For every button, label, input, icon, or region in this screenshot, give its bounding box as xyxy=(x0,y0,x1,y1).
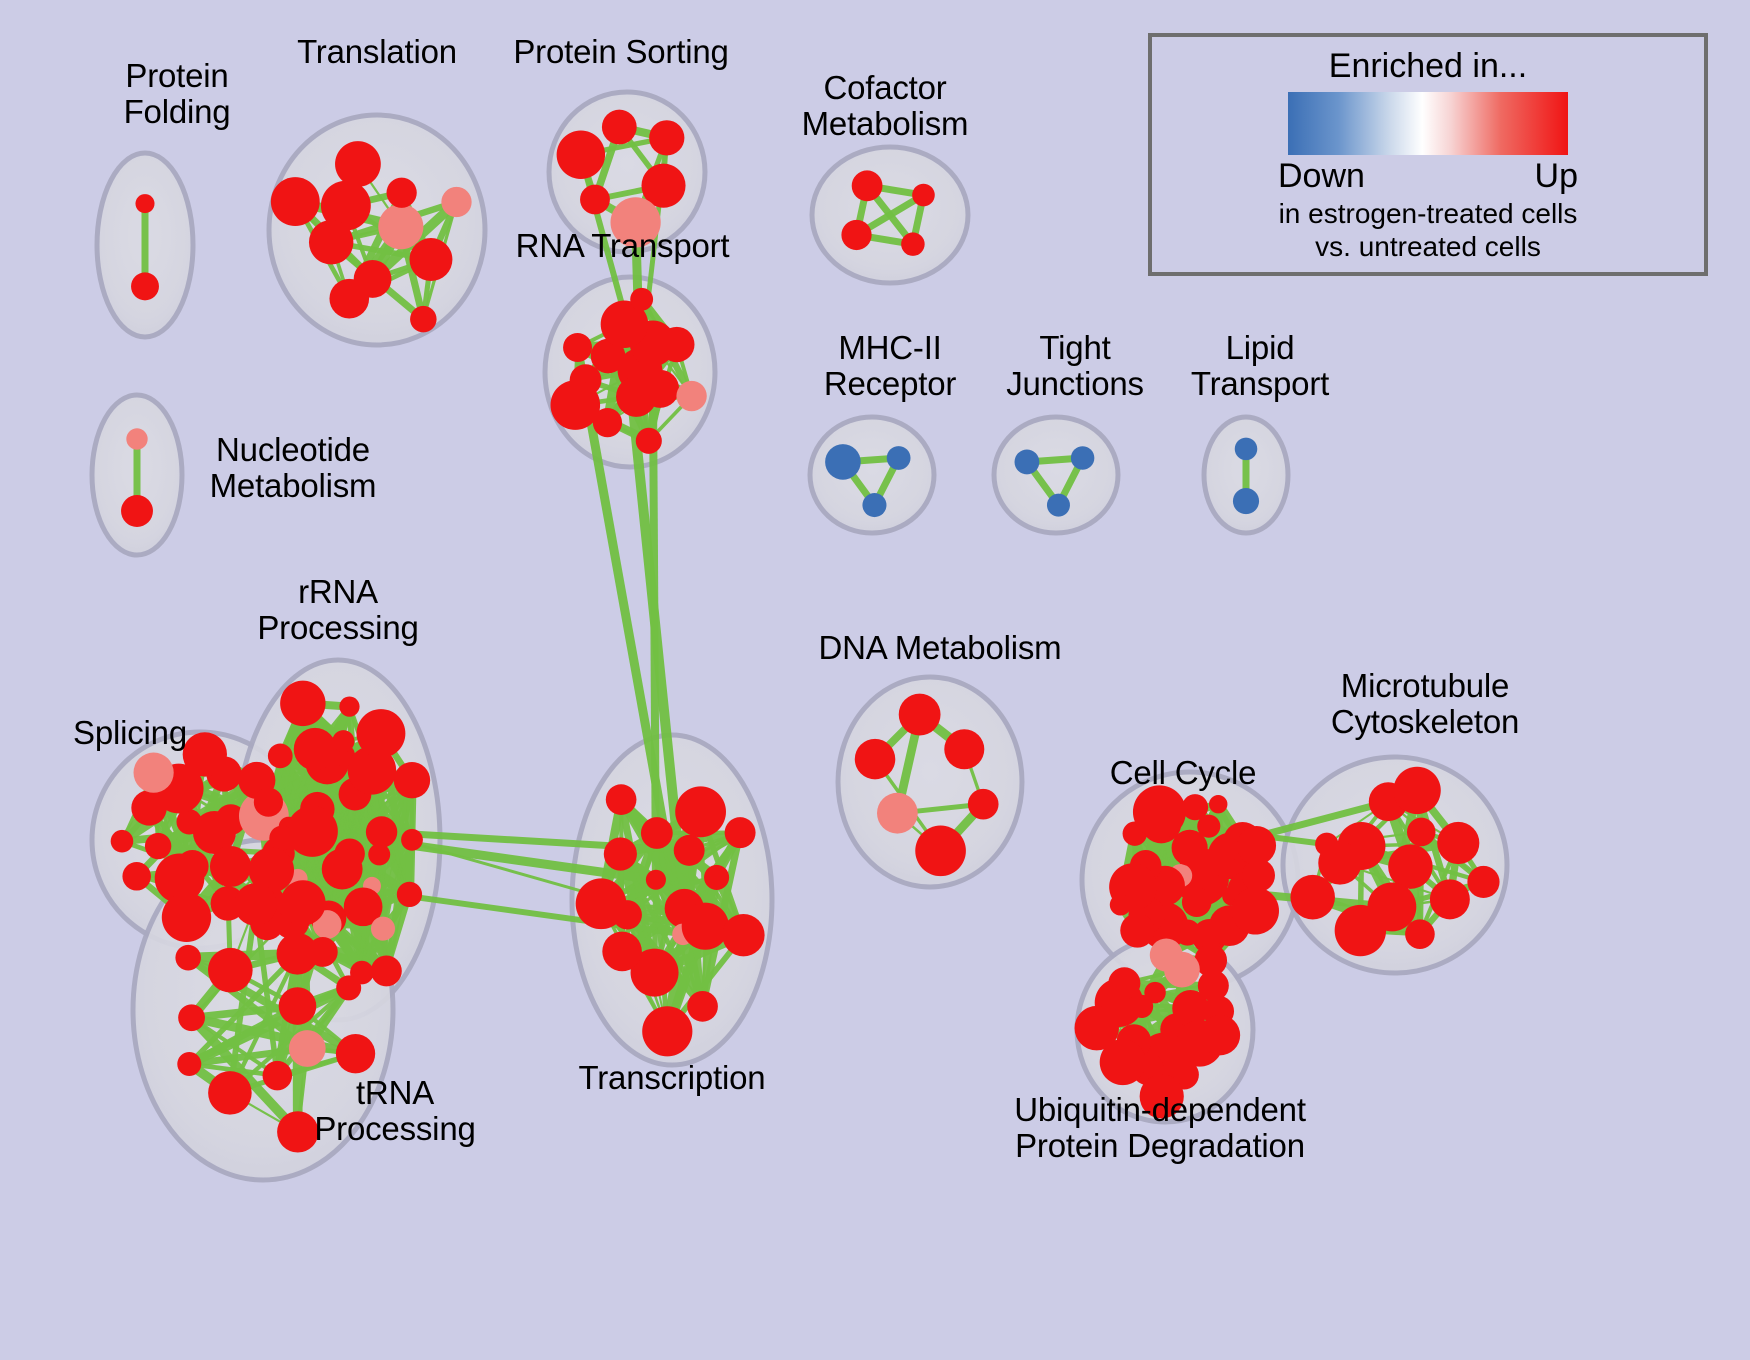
gene-set-node-up[interactable] xyxy=(397,882,422,907)
gene-set-node-up[interactable] xyxy=(1335,905,1386,956)
gene-set-node-up[interactable] xyxy=(1232,887,1279,934)
gene-set-node-up[interactable] xyxy=(855,739,896,780)
gene-set-node-up[interactable] xyxy=(271,177,320,226)
gene-set-node-up[interactable] xyxy=(1174,919,1200,945)
gene-set-node-up[interactable] xyxy=(234,883,277,926)
gene-set-node-weak-up[interactable] xyxy=(126,428,147,449)
gene-set-node-up[interactable] xyxy=(899,694,941,736)
gene-set-node-up[interactable] xyxy=(210,846,251,887)
gene-set-node-weak-up[interactable] xyxy=(676,381,706,411)
gene-set-node-up[interactable] xyxy=(675,786,726,837)
gene-set-node-up[interactable] xyxy=(366,816,397,847)
gene-set-node-up[interactable] xyxy=(642,1006,692,1056)
cluster-label-transcription: Transcription xyxy=(572,1060,772,1096)
gene-set-node-up[interactable] xyxy=(1182,794,1208,820)
gene-set-node-up[interactable] xyxy=(576,878,627,929)
gene-set-node-up[interactable] xyxy=(674,835,705,866)
gene-set-node-up[interactable] xyxy=(131,790,166,825)
gene-set-node-down[interactable] xyxy=(887,446,911,470)
gene-set-node-weak-up[interactable] xyxy=(1164,952,1200,988)
gene-set-node-up[interactable] xyxy=(1144,982,1165,1003)
gene-set-node-up[interactable] xyxy=(968,789,999,820)
gene-set-node-up[interactable] xyxy=(1405,919,1435,949)
cluster-label-rrna-processing: rRNA Processing xyxy=(248,574,428,645)
gene-set-node-up[interactable] xyxy=(682,903,729,950)
gene-set-node-up[interactable] xyxy=(1315,833,1338,856)
gene-set-node-up[interactable] xyxy=(1133,785,1186,838)
gene-set-node-down[interactable] xyxy=(862,493,886,517)
gene-set-node-up[interactable] xyxy=(322,849,363,890)
gene-set-node-up[interactable] xyxy=(336,1034,375,1073)
gene-set-node-up[interactable] xyxy=(339,696,359,716)
gene-set-node-up[interactable] xyxy=(131,272,159,300)
gene-set-node-up[interactable] xyxy=(641,370,679,408)
gene-set-node-up[interactable] xyxy=(401,829,423,851)
gene-set-node-up[interactable] xyxy=(1388,844,1432,888)
gene-set-node-up[interactable] xyxy=(368,843,390,865)
gene-set-node-up[interactable] xyxy=(1120,913,1154,947)
cluster-label-cell-cycle: Cell Cycle xyxy=(1103,755,1263,791)
gene-set-node-up[interactable] xyxy=(841,220,871,250)
gene-set-node-weak-up[interactable] xyxy=(378,204,423,249)
gene-set-node-down[interactable] xyxy=(1235,438,1258,461)
gene-set-node-up[interactable] xyxy=(604,837,637,870)
gene-set-node-down[interactable] xyxy=(1071,446,1094,469)
gene-set-node-up[interactable] xyxy=(1407,818,1436,847)
cluster-label-protein-folding: Protein Folding xyxy=(82,58,272,129)
gene-set-node-up[interactable] xyxy=(1198,970,1229,1001)
gene-set-node-up[interactable] xyxy=(1074,1006,1118,1050)
gene-set-node-up[interactable] xyxy=(563,333,592,362)
gene-set-node-up[interactable] xyxy=(646,870,666,890)
gene-set-node-up[interactable] xyxy=(852,170,883,201)
cluster-label-dna-metabolism: DNA Metabolism xyxy=(815,630,1065,666)
gene-set-node-up[interactable] xyxy=(277,933,319,975)
gene-set-node-up[interactable] xyxy=(394,762,430,798)
gene-set-node-up[interactable] xyxy=(606,784,637,815)
cluster-label-tight-junctions: Tight Junctions xyxy=(985,330,1165,401)
gene-set-node-weak-up[interactable] xyxy=(289,1030,326,1067)
gene-set-node-up[interactable] xyxy=(145,833,171,859)
gene-set-node-up[interactable] xyxy=(557,130,605,178)
gene-set-node-up[interactable] xyxy=(177,1052,201,1076)
gene-set-node-up[interactable] xyxy=(641,817,673,849)
cluster-label-lipid-transport: Lipid Transport xyxy=(1170,330,1350,401)
cluster-label-rna-transport: RNA Transport xyxy=(510,228,735,264)
cluster-label-protein-sorting: Protein Sorting xyxy=(506,34,736,70)
gene-set-node-up[interactable] xyxy=(135,194,154,213)
gene-set-node-down[interactable] xyxy=(1233,488,1259,514)
gene-set-node-weak-up[interactable] xyxy=(371,917,395,941)
gene-set-node-up[interactable] xyxy=(208,948,253,993)
gene-set-node-weak-up[interactable] xyxy=(877,793,918,834)
gene-set-node-up[interactable] xyxy=(111,830,134,853)
gene-set-node-up[interactable] xyxy=(551,380,601,430)
gene-set-node-up[interactable] xyxy=(280,681,325,726)
gene-set-node-up[interactable] xyxy=(1290,875,1335,920)
cluster-label-translation: Translation xyxy=(282,34,472,70)
gene-set-node-up[interactable] xyxy=(636,428,662,454)
gene-set-node-up[interactable] xyxy=(294,728,336,770)
legend-title: Enriched in... xyxy=(1329,47,1527,86)
gene-set-node-up[interactable] xyxy=(725,817,756,848)
gene-set-node-up[interactable] xyxy=(1467,866,1499,898)
gene-set-node-up[interactable] xyxy=(329,279,369,319)
cluster-label-splicing: Splicing xyxy=(55,715,205,751)
gene-set-node-up[interactable] xyxy=(1108,967,1140,999)
gene-set-node-up[interactable] xyxy=(121,495,153,527)
cluster-label-cofactor-metabolism: Cofactor Metabolism xyxy=(790,70,980,141)
gene-set-node-up[interactable] xyxy=(722,914,764,956)
gene-set-node-up[interactable] xyxy=(357,709,406,758)
cluster-label-nucleotide-metabolism: Nucleotide Metabolism xyxy=(198,432,388,503)
gene-set-node-up[interactable] xyxy=(1200,1015,1240,1055)
gene-set-node-up[interactable] xyxy=(279,987,317,1025)
cluster-label-microtubule-cytoskeleton: Microtubule Cytoskeleton xyxy=(1310,668,1540,739)
cluster-label-ubiquitin-protein-degradation: Ubiquitin-dependent Protein Degradation xyxy=(995,1092,1325,1163)
legend-color-bar xyxy=(1288,92,1568,155)
gene-set-node-up[interactable] xyxy=(704,865,729,890)
network-edge xyxy=(653,343,656,879)
gene-set-node-up[interactable] xyxy=(901,232,925,256)
gene-set-node-up[interactable] xyxy=(268,744,293,769)
gene-set-node-weak-up[interactable] xyxy=(134,753,174,793)
gene-set-node-up[interactable] xyxy=(1393,767,1440,814)
gene-set-node-up[interactable] xyxy=(410,238,453,281)
gene-set-node-up[interactable] xyxy=(335,141,381,187)
gene-set-node-up[interactable] xyxy=(280,880,325,925)
gene-set-node-up[interactable] xyxy=(687,991,718,1022)
legend-caption-line1: in estrogen-treated cells xyxy=(1279,198,1578,229)
legend-caption-line2: vs. untreated cells xyxy=(1315,231,1541,262)
gene-set-node-up[interactable] xyxy=(332,730,354,752)
gene-set-node-up[interactable] xyxy=(387,178,417,208)
gene-set-node-up[interactable] xyxy=(371,955,402,986)
gene-set-node-up[interactable] xyxy=(912,184,935,207)
gene-set-node-up[interactable] xyxy=(630,288,653,311)
gene-set-node-up[interactable] xyxy=(944,729,984,769)
gene-set-node-up[interactable] xyxy=(208,1071,252,1115)
gene-set-node-up[interactable] xyxy=(602,110,637,145)
gene-set-node-up[interactable] xyxy=(602,932,642,972)
gene-set-node-up[interactable] xyxy=(162,893,211,942)
gene-set-node-up[interactable] xyxy=(175,945,201,971)
gene-set-node-up[interactable] xyxy=(1110,894,1131,915)
gene-set-node-up[interactable] xyxy=(1437,822,1479,864)
gene-set-node-up[interactable] xyxy=(410,306,437,333)
gene-set-node-up[interactable] xyxy=(1209,795,1227,813)
gene-set-node-down[interactable] xyxy=(825,444,861,480)
legend-high-label: Up xyxy=(1535,157,1578,196)
gene-set-node-weak-up[interactable] xyxy=(441,187,471,217)
gene-set-node-up[interactable] xyxy=(336,975,361,1000)
legend-box: Enriched in... Down Up in estrogen-treat… xyxy=(1148,33,1708,276)
gene-set-node-up[interactable] xyxy=(1237,826,1276,865)
enrichment-map-figure: Protein FoldingTranslationProtein Sortin… xyxy=(0,0,1750,1360)
gene-set-node-up[interactable] xyxy=(254,788,283,817)
cluster-label-mhc-ii-receptor: MHC-II Receptor xyxy=(800,330,980,401)
cluster-label-trna-processing: tRNA Processing xyxy=(305,1075,485,1146)
gene-set-node-up[interactable] xyxy=(1182,887,1212,917)
gene-set-node-up[interactable] xyxy=(309,220,353,264)
gene-set-node-down[interactable] xyxy=(1015,450,1040,475)
gene-set-node-up[interactable] xyxy=(263,1061,293,1091)
gene-set-node-up[interactable] xyxy=(122,862,151,891)
gene-set-node-down[interactable] xyxy=(1047,494,1070,517)
gene-set-node-up[interactable] xyxy=(580,185,610,215)
gene-set-node-up[interactable] xyxy=(269,826,294,851)
gene-set-node-up[interactable] xyxy=(649,120,684,155)
gene-set-node-up[interactable] xyxy=(659,327,694,362)
gene-set-node-up[interactable] xyxy=(178,1004,205,1031)
legend-low-label: Down xyxy=(1278,157,1365,196)
gene-set-node-up[interactable] xyxy=(915,826,966,877)
gene-set-node-up[interactable] xyxy=(1430,879,1470,919)
